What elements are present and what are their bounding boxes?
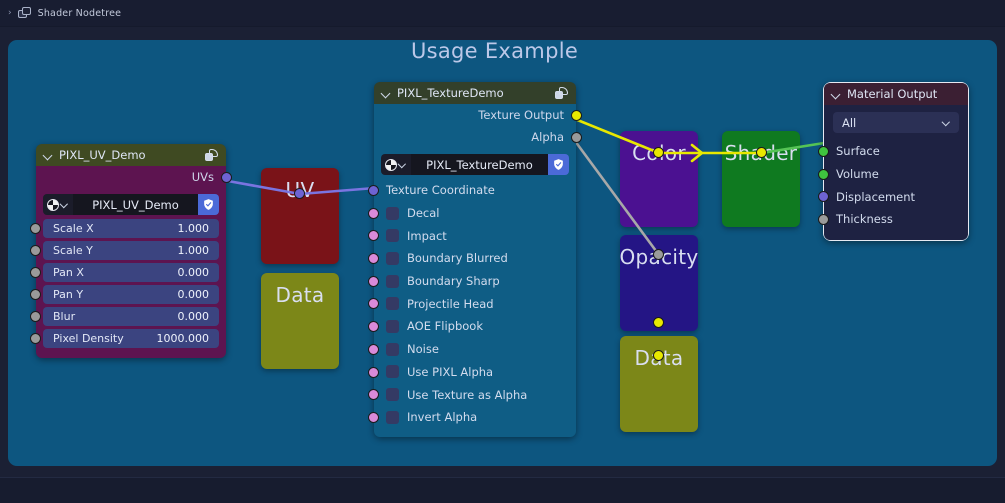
property-scale-x[interactable]: Scale X 1.000 — [43, 219, 219, 238]
input-row-volume[interactable]: Volume — [824, 163, 968, 186]
frame-data-left-label: Data — [276, 283, 325, 307]
input-socket-pixel-density[interactable] — [30, 333, 41, 344]
checkbox-noise[interactable] — [386, 343, 399, 356]
input-row-projectile-head[interactable]: Projectile Head — [374, 292, 576, 315]
input-socket-texture-coordinate[interactable] — [368, 185, 379, 196]
chevron-down-icon — [399, 161, 406, 168]
chevron-down-icon — [61, 201, 68, 208]
collapse-chevron-icon[interactable] — [382, 89, 391, 98]
property-label: Pan Y — [53, 288, 83, 301]
reroute-color-socket[interactable] — [653, 147, 664, 158]
input-label: Decal — [407, 206, 440, 220]
chevron-down-icon — [943, 119, 950, 126]
input-row-decal[interactable]: Decal — [374, 202, 576, 225]
node-pixl-uv-demo[interactable]: PIXL_UV_Demo UVs PIXL_UV_Demo — [36, 144, 226, 358]
node-group-picker-button[interactable] — [43, 194, 73, 215]
node-group-name-field[interactable]: PIXL_TextureDemo — [411, 154, 548, 175]
input-row-surface[interactable]: Surface — [824, 140, 968, 163]
node-title: Material Output — [847, 87, 961, 101]
frame-color[interactable]: Color — [620, 131, 698, 227]
input-socket-volume[interactable] — [818, 169, 829, 180]
input-label: Use Texture as Alpha — [407, 388, 527, 402]
input-socket-scale-y[interactable] — [30, 245, 41, 256]
input-label: Boundary Blurred — [407, 251, 508, 265]
input-socket-surface[interactable] — [818, 146, 829, 157]
output-label-uvs: UVs — [192, 170, 214, 184]
input-row-use-texture-as-alpha[interactable]: Use Texture as Alpha — [374, 383, 576, 406]
node-group-selector[interactable]: PIXL_UV_Demo — [43, 194, 219, 215]
input-label: Surface — [836, 144, 880, 158]
input-socket-scale-x[interactable] — [30, 223, 41, 234]
node-title: PIXL_UV_Demo — [59, 148, 199, 162]
node-body-pixl-uv-demo: UVs PIXL_UV_Demo Scale X 1. — [36, 166, 226, 358]
property-label: Scale X — [53, 222, 94, 235]
reroute-shader-socket[interactable] — [756, 147, 767, 158]
input-label: Boundary Sharp — [407, 274, 500, 288]
node-group-name-field[interactable]: PIXL_UV_Demo — [73, 194, 198, 215]
node-group-selector[interactable]: PIXL_TextureDemo — [381, 154, 569, 175]
shield-check-icon[interactable] — [548, 154, 569, 175]
property-pan-y[interactable]: Pan Y 0.000 — [43, 285, 219, 304]
frame-shader[interactable]: Shader — [722, 131, 800, 227]
reroute-uv-socket[interactable] — [294, 188, 305, 199]
input-row-use-pixl-alpha[interactable]: Use PIXL Alpha — [374, 361, 576, 384]
reroute-opacity-socket[interactable] — [653, 249, 664, 260]
property-value: 1.000 — [178, 222, 210, 235]
output-row-uvs[interactable]: UVs — [36, 166, 226, 188]
frame-data-left[interactable]: Data — [261, 273, 339, 369]
output-socket-alpha[interactable] — [571, 132, 582, 143]
shield-check-icon[interactable] — [198, 194, 219, 215]
output-socket-texture-output[interactable] — [571, 110, 582, 121]
property-scale-y[interactable]: Scale Y 1.000 — [43, 241, 219, 260]
checkbox-boundary-blurred[interactable] — [386, 252, 399, 265]
property-pan-x[interactable]: Pan X 0.000 — [43, 263, 219, 282]
input-socket-projectile-head[interactable] — [368, 298, 379, 309]
input-socket-pan-y[interactable] — [30, 289, 41, 300]
input-label: Use PIXL Alpha — [407, 365, 493, 379]
input-row-impact[interactable]: Impact — [374, 224, 576, 247]
node-group-picker-button[interactable] — [381, 154, 411, 175]
node-group-icon — [385, 159, 397, 171]
input-socket-use-texture-as-alpha[interactable] — [368, 389, 379, 400]
input-socket-decal[interactable] — [368, 208, 379, 219]
input-socket-aoe-flipbook[interactable] — [368, 321, 379, 332]
blender-shader-editor: › Shader Nodetree Usage Example UV Data … — [0, 0, 1005, 503]
node-title: PIXL_TextureDemo — [397, 86, 549, 100]
property-value: 1.000 — [178, 244, 210, 257]
input-socket-boundary-blurred[interactable] — [368, 253, 379, 264]
breadcrumb-chevron-icon: › — [8, 9, 12, 18]
property-blur[interactable]: Blur 0.000 — [43, 307, 219, 326]
reroute-data-left-socket[interactable] — [653, 317, 664, 328]
checkbox-aoe-flipbook[interactable] — [386, 320, 399, 333]
input-row-aoe-flipbook[interactable]: AOE Flipbook — [374, 315, 576, 338]
input-socket-boundary-sharp[interactable] — [368, 276, 379, 287]
node-body-pixl-texture-demo: Texture Output Alpha PIXL_TextureDemo — [374, 104, 576, 437]
output-label-alpha: Alpha — [531, 130, 564, 144]
collapse-chevron-icon[interactable] — [832, 90, 841, 99]
input-row-boundary-blurred[interactable]: Boundary Blurred — [374, 247, 576, 270]
input-socket-blur[interactable] — [30, 311, 41, 322]
output-label-texture-output: Texture Output — [478, 108, 564, 122]
collapse-chevron-icon[interactable] — [44, 151, 53, 160]
input-row-boundary-sharp[interactable]: Boundary Sharp — [374, 270, 576, 293]
input-row-invert-alpha[interactable]: Invert Alpha — [374, 406, 576, 429]
input-socket-pan-x[interactable] — [30, 267, 41, 278]
node-body-material-output: All Surface Volume Displacement — [824, 105, 968, 240]
checkbox-projectile-head[interactable] — [386, 297, 399, 310]
node-header-material-output[interactable]: Material Output — [824, 83, 968, 105]
target-value: All — [842, 116, 856, 130]
output-socket-uvs[interactable] — [221, 172, 232, 183]
input-label: Texture Coordinate — [386, 183, 495, 197]
node-material-output[interactable]: Material Output All Surface Volume Dis — [823, 82, 969, 241]
checkbox-use-texture-as-alpha[interactable] — [386, 388, 399, 401]
input-socket-use-pixl-alpha[interactable] — [368, 367, 379, 378]
input-socket-noise[interactable] — [368, 344, 379, 355]
input-label: Displacement — [836, 190, 915, 204]
input-socket-impact[interactable] — [368, 230, 379, 241]
node-group-icon — [555, 87, 569, 100]
property-value: 1000.000 — [157, 332, 210, 345]
input-row-displacement[interactable]: Displacement — [824, 185, 968, 208]
property-label: Scale Y — [53, 244, 93, 257]
input-label: Invert Alpha — [407, 410, 477, 424]
property-value: 0.000 — [178, 288, 210, 301]
frame-title: Usage Example — [0, 39, 989, 63]
input-label: Impact — [407, 229, 447, 243]
input-label: AOE Flipbook — [407, 319, 483, 333]
checkbox-invert-alpha[interactable] — [386, 411, 399, 424]
checkbox-impact[interactable] — [386, 229, 399, 242]
breadcrumb-label: Shader Nodetree — [38, 8, 122, 19]
property-pixel-density[interactable]: Pixel Density 1000.000 — [43, 329, 219, 348]
input-label: Thickness — [836, 212, 893, 226]
node-group-icon — [205, 149, 219, 162]
input-socket-thickness[interactable] — [818, 214, 829, 225]
output-row-texture-output[interactable]: Texture Output — [374, 104, 576, 126]
breadcrumb-bar: › Shader Nodetree — [0, 0, 1005, 27]
status-bar — [0, 477, 1005, 503]
input-row-thickness[interactable]: Thickness — [824, 208, 968, 231]
property-value: 0.000 — [178, 266, 210, 279]
output-row-alpha[interactable]: Alpha — [374, 126, 576, 148]
checkbox-boundary-sharp[interactable] — [386, 275, 399, 288]
frame-uv[interactable]: UV — [261, 168, 339, 264]
node-header-pixl-texture-demo[interactable]: PIXL_TextureDemo — [374, 82, 576, 104]
input-socket-displacement[interactable] — [818, 191, 829, 202]
property-label: Pan X — [53, 266, 84, 279]
node-canvas[interactable]: Usage Example UV Data Color Shader Opaci… — [0, 27, 1005, 477]
property-label: Blur — [53, 310, 75, 323]
node-pixl-texture-demo[interactable]: PIXL_TextureDemo Texture Output Alpha — [374, 82, 576, 437]
input-label: Volume — [836, 167, 879, 181]
nodetree-icon — [18, 7, 32, 20]
node-header-pixl-uv-demo[interactable]: PIXL_UV_Demo — [36, 144, 226, 166]
reroute-data-right-socket[interactable] — [653, 350, 664, 361]
input-label: Projectile Head — [407, 297, 494, 311]
property-value: 0.000 — [178, 310, 210, 323]
input-row-noise[interactable]: Noise — [374, 338, 576, 361]
node-group-icon — [47, 199, 59, 211]
checkbox-decal[interactable] — [386, 207, 399, 220]
input-label: Noise — [407, 342, 439, 356]
input-socket-invert-alpha[interactable] — [368, 412, 379, 423]
input-row-texture-coordinate[interactable]: Texture Coordinate — [374, 179, 576, 202]
target-dropdown[interactable]: All — [833, 112, 959, 133]
property-label: Pixel Density — [53, 332, 124, 345]
checkbox-use-pixl-alpha[interactable] — [386, 365, 399, 378]
